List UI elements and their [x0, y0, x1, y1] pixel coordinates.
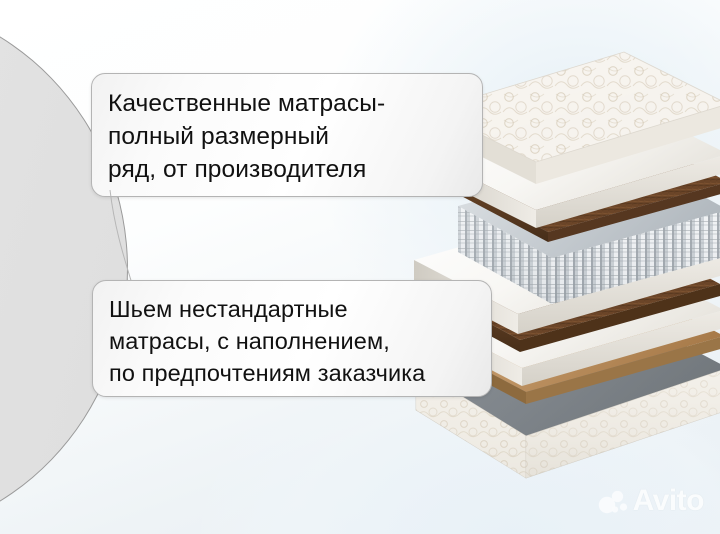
callout-box-custom: Шьем нестандартные матрасы, с наполнение…	[92, 280, 492, 397]
callout-box-quality: Качественные матрасы- полный размерный р…	[91, 73, 483, 197]
advertisement-image: Качественные матрасы- полный размерный р…	[0, 0, 720, 534]
callout-text-quality: Качественные матрасы- полный размерный р…	[108, 87, 482, 186]
callout-text-custom: Шьем нестандартные матрасы, с наполнение…	[109, 293, 491, 389]
